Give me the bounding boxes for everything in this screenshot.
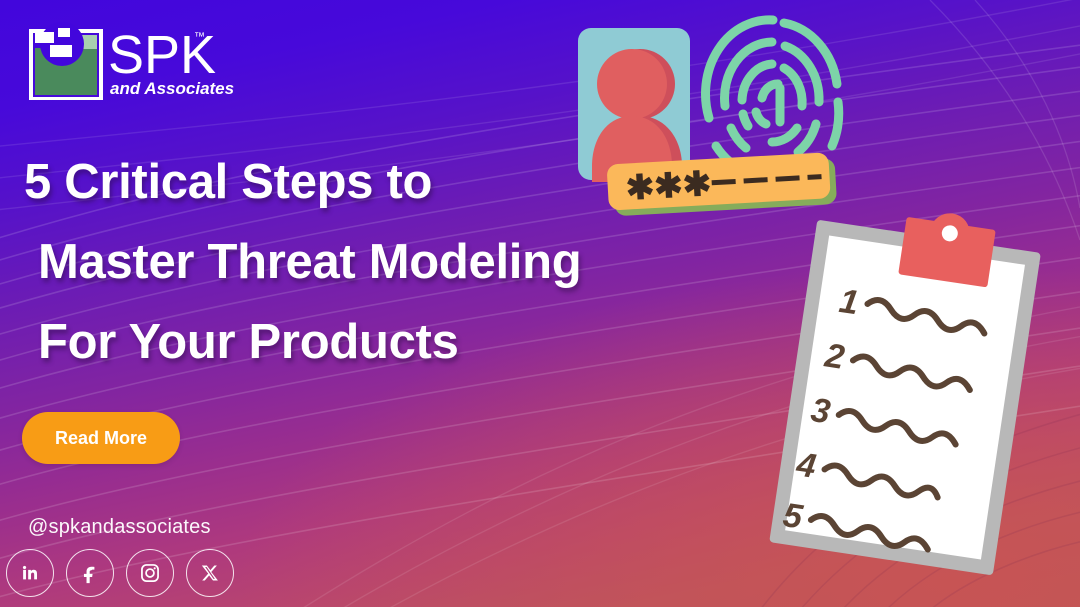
logo-chip-2 (58, 28, 70, 37)
social-link-facebook[interactable] (66, 549, 114, 597)
x-twitter-icon (200, 563, 220, 583)
social-link-x[interactable] (186, 549, 234, 597)
facebook-icon (79, 562, 101, 584)
social-link-instagram[interactable] (126, 549, 174, 597)
headline-line-3: For Your Products (24, 302, 784, 382)
logo-chip-1 (35, 32, 54, 43)
promo-banner: SPK ™ and Associates 5 Critical Steps to… (0, 0, 1080, 607)
clipboard-clip (898, 212, 997, 287)
logo-tagline: and Associates (110, 79, 234, 98)
social-handle: @spkandassociates (28, 516, 211, 539)
linkedin-icon (19, 562, 41, 584)
identity-illustration: ✱✱✱ (566, 6, 856, 228)
clipboard-illustration: 1 2 3 4 5 (742, 212, 1080, 607)
social-links (6, 549, 234, 597)
fingerprint-graphic (706, 20, 839, 168)
headline-line-2: Master Threat Modeling (24, 222, 784, 302)
spk-logo[interactable]: SPK ™ and Associates (22, 18, 272, 100)
id-card-graphic (578, 28, 690, 182)
read-more-button[interactable]: Read More (22, 412, 180, 464)
instagram-icon (139, 562, 161, 584)
logo-trademark: ™ (194, 31, 205, 43)
social-link-linkedin[interactable] (6, 549, 54, 597)
logo-chip-3 (50, 45, 72, 57)
password-mask-glyphs: ✱✱✱ (625, 165, 712, 208)
